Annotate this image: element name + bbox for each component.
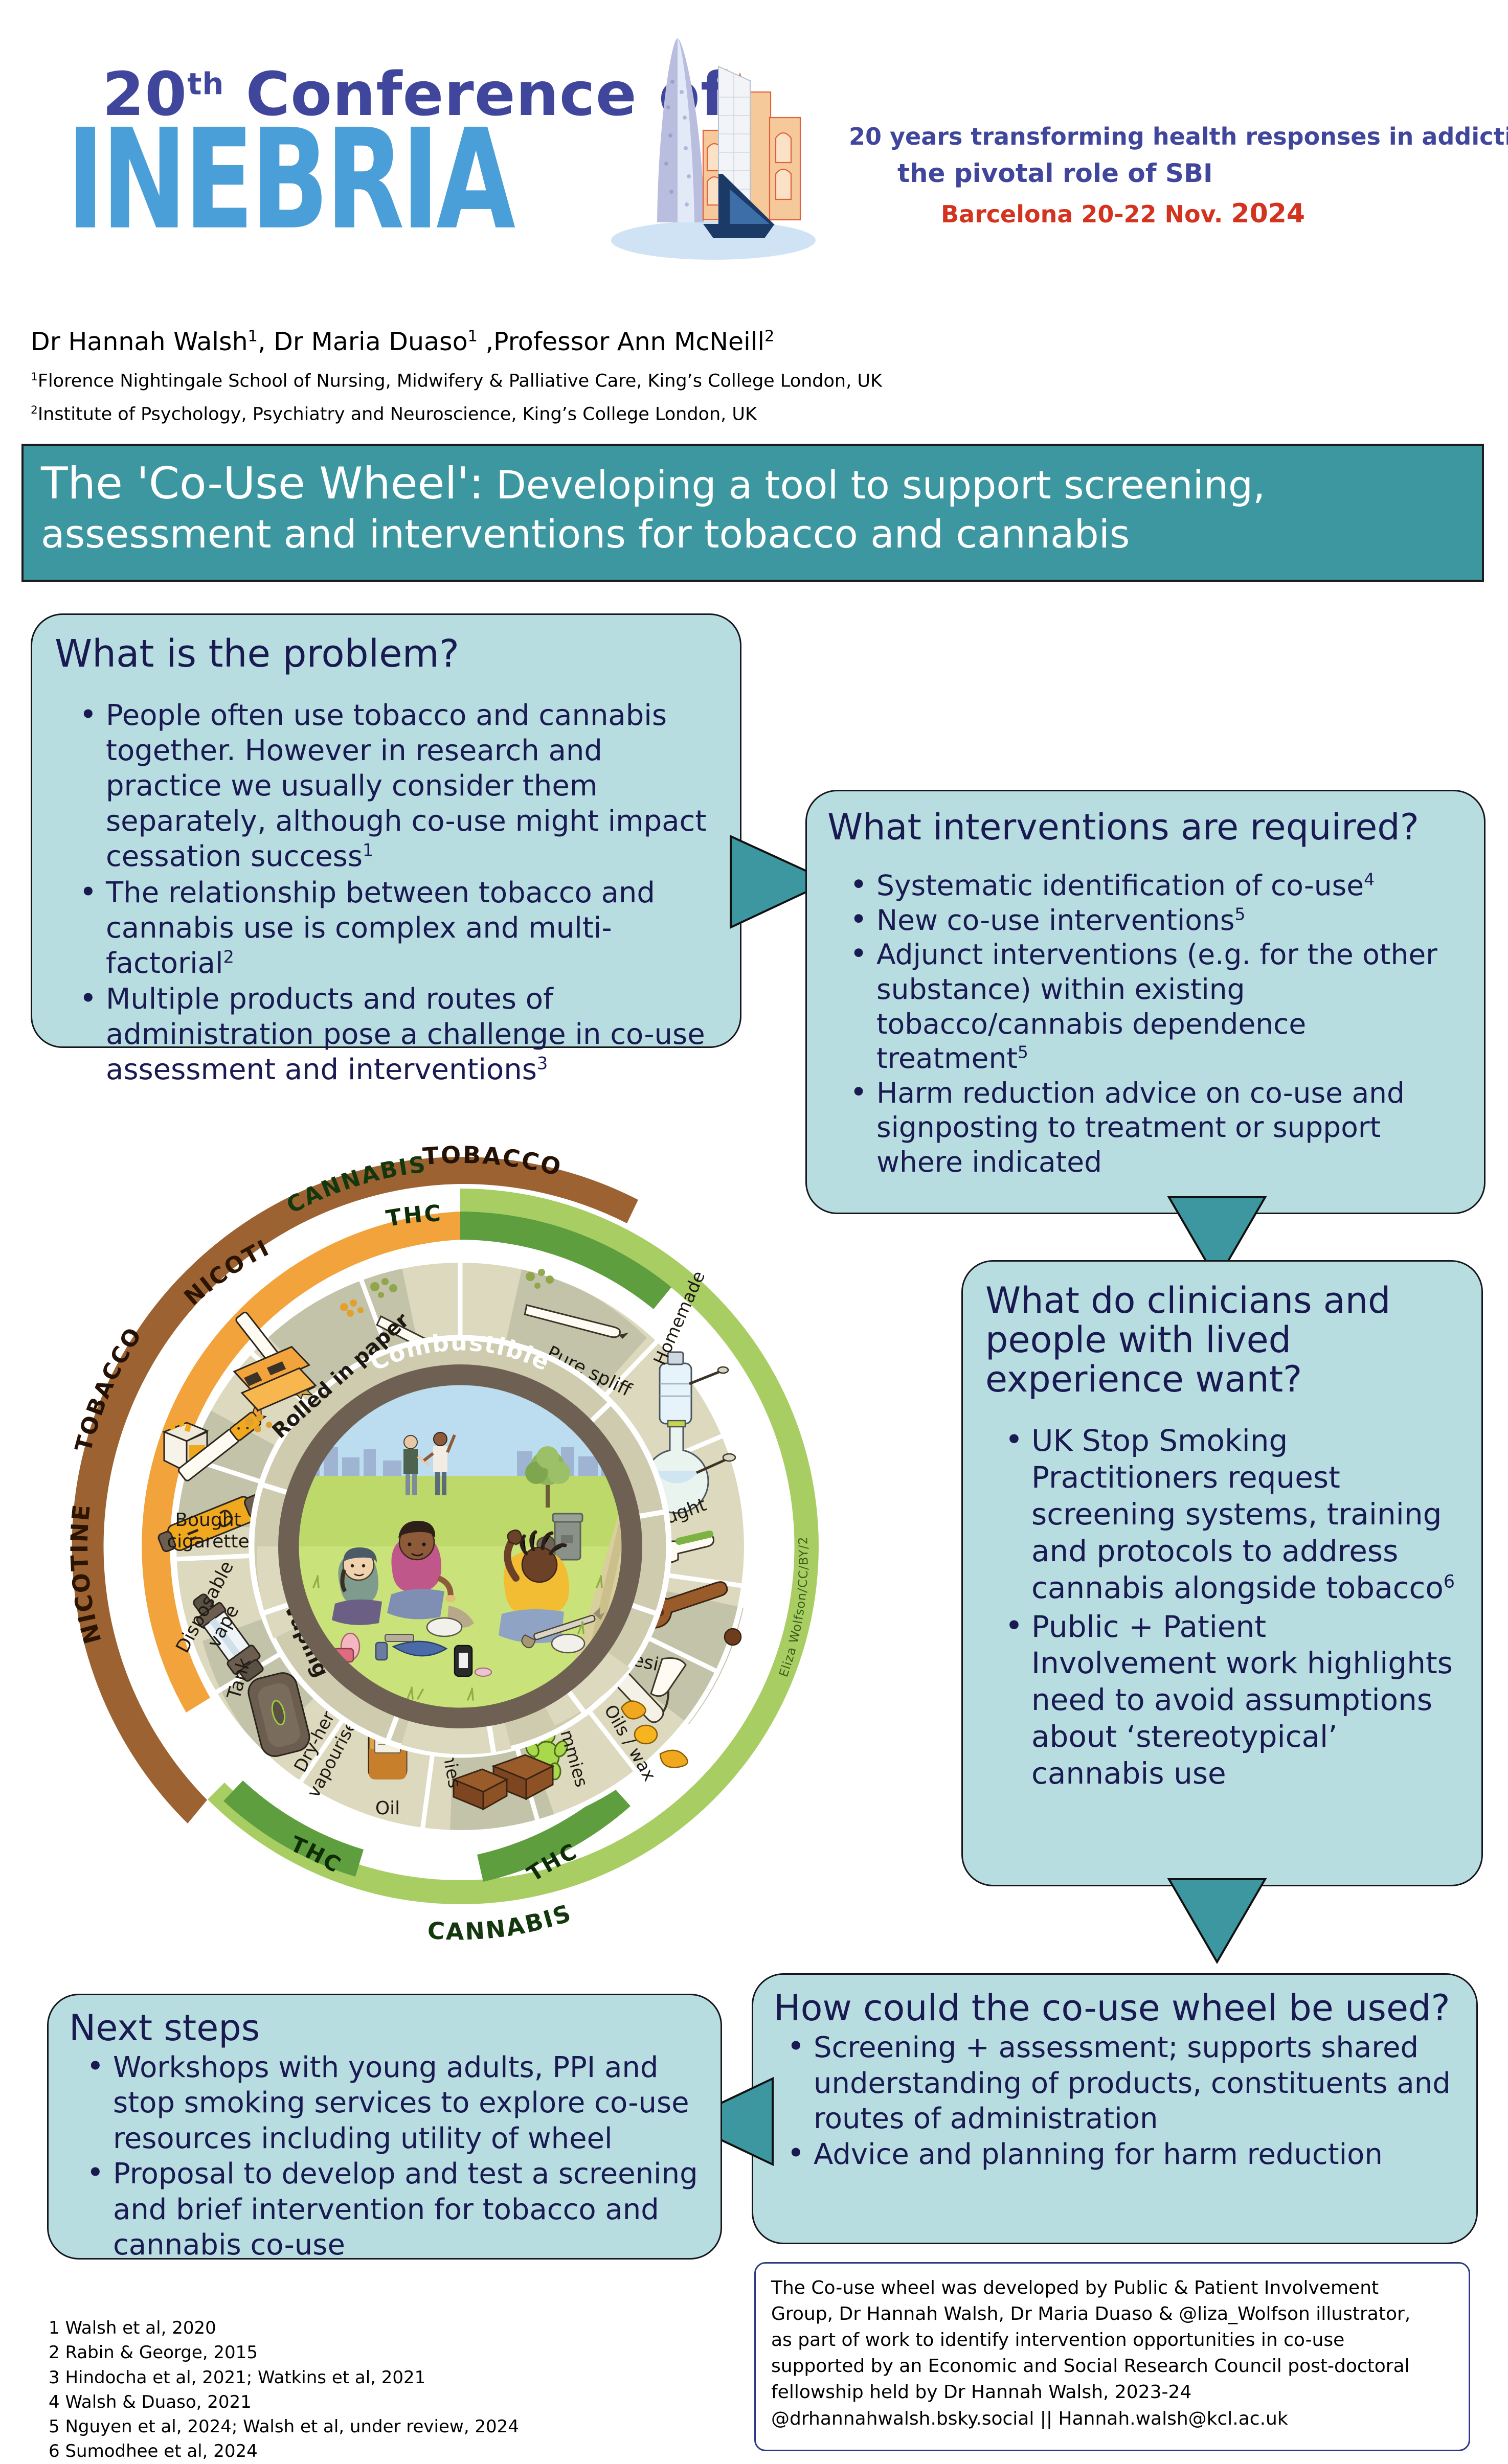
conference-header: 20th Conference of INEBRIA	[0, 0, 1508, 276]
poster-root: 20th Conference of INEBRIA	[0, 0, 1508, 2464]
clinicians-bullets: UK Stop Smoking Practitioners request sc…	[1031, 1423, 1459, 1792]
reference-item: 3 Hindocha et al, 2021; Watkins et al, 2…	[49, 2365, 519, 2390]
list-item: Workshops with young adults, PPI and sto…	[113, 2050, 700, 2156]
ack-line: as part of work to identify intervention…	[771, 2327, 1453, 2353]
arrow-clinicians-to-how-used	[1166, 1877, 1268, 1964]
section-how-could-wheel-be-used: How could the co-use wheel be used? Scre…	[752, 1973, 1478, 2244]
inebria-logo-text: INEBRIA	[66, 100, 512, 261]
list-item: Advice and planning for harm reduction	[814, 2137, 1456, 2172]
ack-line: supported by an Economic and Social Rese…	[771, 2353, 1453, 2379]
list-item: Screening + assessment; supports shared …	[814, 2030, 1456, 2136]
how-used-heading: How could the co-use wheel be used?	[774, 1988, 1456, 2028]
affiliation-2: 2Institute of Psychology, Psychiatry and…	[31, 404, 757, 425]
reference-item: 5 Nguyen et al, 2024; Walsh et al, under…	[49, 2414, 519, 2439]
reference-item: 1 Walsh et al, 2020	[49, 2316, 519, 2340]
wheel-label-oil: Oil	[375, 1798, 400, 1819]
author-list: Dr Hannah Walsh1, Dr Maria Duaso1 ,Profe…	[31, 327, 774, 356]
ack-line: Group, Dr Hannah Walsh, Dr Maria Duaso &…	[771, 2301, 1453, 2327]
section-what-interventions-are-required: What interventions are required? Systema…	[805, 790, 1486, 1214]
list-item: Proposal to develop and test a screening…	[113, 2156, 700, 2263]
problem-bullets: People often use tobacco and cannabis to…	[106, 698, 717, 1088]
wheel-label-cannabis-bottom: CANNABIS	[426, 1899, 575, 1945]
reference-item: 4 Walsh & Duaso, 2021	[49, 2390, 519, 2414]
list-item: People often use tobacco and cannabis to…	[106, 698, 717, 874]
list-item: Public + Patient Involvement work highli…	[1031, 1609, 1459, 1793]
ack-line: The Co-use wheel was developed by Public…	[771, 2275, 1453, 2301]
list-item: Harm reduction advice on co-use and sign…	[876, 1076, 1464, 1180]
section-what-do-clinicians-want: What do clinicians and people with lived…	[961, 1260, 1483, 1886]
wheel-label-bought-cigarette-2: cigarette	[167, 1531, 249, 1552]
wheel-label-bought-cigarette: Bought	[175, 1510, 241, 1531]
poster-title: The 'Co-Use Wheel': Developing a tool to…	[41, 457, 1465, 558]
tagline-primary: 20 years transforming health responses i…	[849, 123, 1508, 150]
list-item: New co-use interventions5	[876, 903, 1464, 938]
ack-contact-line: @drhannahwalsh.bsky.social || Hannah.wal…	[771, 2406, 1453, 2432]
problem-heading: What is the problem?	[55, 633, 717, 675]
reference-item: 6 Sumodhee et al, 2024	[49, 2439, 519, 2463]
how-used-bullets: Screening + assessment; supports shared …	[814, 2030, 1456, 2172]
next-steps-bullets: Workshops with young adults, PPI and sto…	[113, 2050, 700, 2263]
reference-item: 2 Rabin & George, 2015	[49, 2340, 519, 2365]
tagline-secondary: the pivotal role of SBI	[897, 158, 1213, 188]
acknowledgement-box: The Co-use wheel was developed by Public…	[754, 2262, 1470, 2451]
interventions-heading: What interventions are required?	[827, 808, 1464, 847]
section-what-is-the-problem: What is the problem? People often use to…	[31, 613, 741, 1048]
barcelona-skyline-icon	[550, 20, 867, 261]
clinicians-heading: What do clinicians and people with lived…	[985, 1281, 1459, 1399]
wheel-centre-illustration	[298, 1384, 623, 1709]
list-item: UK Stop Smoking Practitioners request sc…	[1031, 1423, 1459, 1607]
list-item: Multiple products and routes of administ…	[106, 982, 717, 1088]
section-next-steps: Next steps Workshops with young adults, …	[47, 1994, 722, 2260]
tagline-location-date: Barcelona 20-22 Nov. 2024	[941, 198, 1305, 229]
ack-line: fellowship held by Dr Hannah Walsh, 2023…	[771, 2379, 1453, 2405]
poster-title-bar: The 'Co-Use Wheel': Developing a tool to…	[21, 444, 1484, 582]
list-item: The relationship between tobacco and can…	[106, 876, 717, 982]
list-item: Adjunct interventions (e.g. for the othe…	[876, 938, 1464, 1076]
interventions-bullets: Systematic identification of co-use4 New…	[876, 869, 1464, 1180]
reference-list: 1 Walsh et al, 2020 2 Rabin & George, 20…	[49, 2316, 519, 2464]
co-use-wheel-diagram: TOBACCO TOBACCO CANNABIS CANNABIS Eliza …	[43, 1097, 877, 1991]
list-item: Systematic identification of co-use4	[876, 869, 1464, 903]
affiliation-1: 1Florence Nightingale School of Nursing,…	[31, 371, 882, 392]
wheel-label-nicotine-top: NICOTINE	[43, 1097, 274, 1311]
next-steps-heading: Next steps	[69, 2009, 700, 2048]
